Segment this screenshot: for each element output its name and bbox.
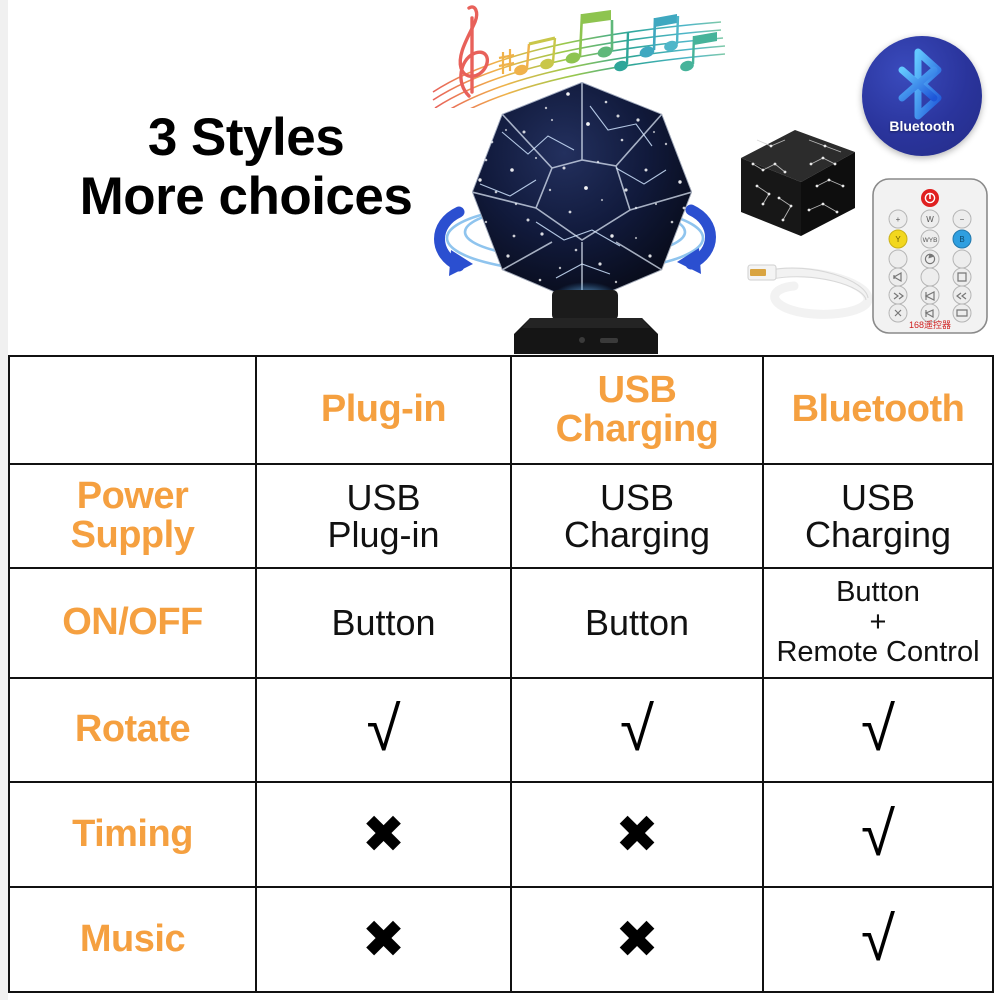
cell-timing-plug-in: ✖	[256, 782, 511, 887]
row-label-timing: Timing	[9, 782, 256, 887]
table-row: Rotate √ √ √	[9, 678, 993, 782]
table-row: Timing ✖ ✖ √	[9, 782, 993, 887]
cell-power-bluetooth: USB Charging	[763, 464, 993, 568]
check-mark-icon: √	[366, 699, 400, 761]
cell-music-usb-charging: ✖	[511, 887, 763, 992]
column-header-plug-in: Plug-in	[256, 356, 511, 464]
check-mark-icon: √	[861, 699, 895, 761]
check-mark-icon: √	[620, 699, 654, 761]
row-label-rotate: Rotate	[9, 678, 256, 782]
cell-music-bluetooth: √	[763, 887, 993, 992]
gift-box-icon	[733, 124, 863, 242]
bluetooth-badge: Bluetooth	[862, 36, 982, 156]
cell-rotate-usb-charging: √	[511, 678, 763, 782]
bluetooth-badge-label: Bluetooth	[862, 118, 982, 134]
column-header-bluetooth: Bluetooth	[763, 356, 993, 464]
headline-line-2: More choices	[46, 167, 446, 226]
table-row: Music ✖ ✖ √	[9, 887, 993, 992]
cross-mark-icon: ✖	[615, 809, 659, 861]
svg-text:+: +	[896, 215, 901, 224]
headline-line-1: 3 Styles	[46, 108, 446, 167]
cell-onoff-bluetooth: Button + Remote Control	[763, 568, 993, 678]
svg-text:−: −	[960, 215, 965, 224]
cross-mark-icon: ✖	[362, 809, 406, 861]
svg-text:B: B	[959, 235, 964, 244]
svg-text:WYB: WYB	[923, 237, 938, 244]
cell-power-usb-charging: USB Charging	[511, 464, 763, 568]
usb-cable-icon	[742, 248, 882, 324]
table-row: ON/OFF Button Button Button + Remote Con…	[9, 568, 993, 678]
cell-onoff-usb-charging: Button	[511, 568, 763, 678]
table-corner-cell	[9, 356, 256, 464]
cell-timing-usb-charging: ✖	[511, 782, 763, 887]
cross-mark-icon: ✖	[615, 914, 659, 966]
row-label-on-off: ON/OFF	[9, 568, 256, 678]
cell-power-plug-in: USB Plug-in	[256, 464, 511, 568]
table-row: Power Supply USB Plug-in USB Charging US…	[9, 464, 993, 568]
page-title: 3 Styles More choices	[46, 108, 446, 227]
star-projector-icon	[440, 72, 725, 357]
row-label-music: Music	[9, 887, 256, 992]
svg-text:Y: Y	[895, 235, 901, 244]
check-mark-icon: √	[861, 909, 895, 971]
cell-rotate-bluetooth: √	[763, 678, 993, 782]
cell-rotate-plug-in: √	[256, 678, 511, 782]
row-label-power-supply: Power Supply	[9, 464, 256, 568]
cell-onoff-plug-in: Button	[256, 568, 511, 678]
svg-text:W: W	[926, 215, 934, 224]
column-header-usb-charging: USB Charging	[511, 356, 763, 464]
check-mark-icon: √	[861, 804, 895, 866]
hero-section: 3 Styles More choices	[0, 0, 1000, 355]
remote-control-icon: + W − Y WYB B 168遥控器	[868, 176, 992, 336]
cross-mark-icon: ✖	[362, 914, 406, 966]
cell-music-plug-in: ✖	[256, 887, 511, 992]
comparison-table-wrapper: Plug-in USB Charging Bluetooth Power Sup…	[8, 355, 992, 991]
table-header-row: Plug-in USB Charging Bluetooth	[9, 356, 993, 464]
bluetooth-icon	[888, 48, 956, 120]
cell-timing-bluetooth: √	[763, 782, 993, 887]
comparison-table: Plug-in USB Charging Bluetooth Power Sup…	[8, 355, 994, 993]
remote-caption: 168遥控器	[909, 319, 951, 330]
